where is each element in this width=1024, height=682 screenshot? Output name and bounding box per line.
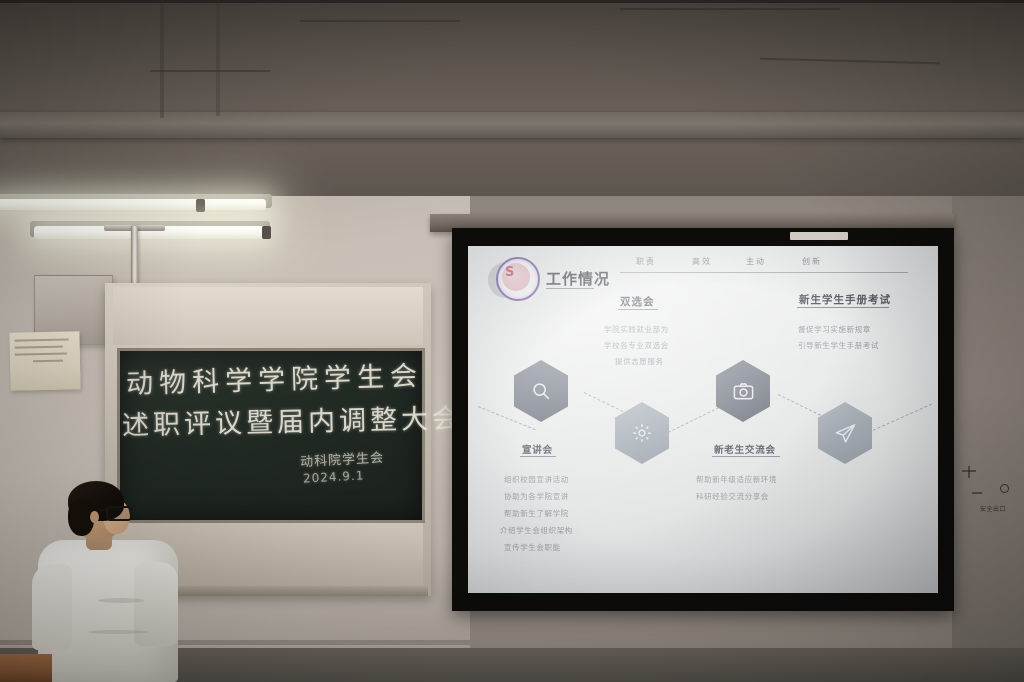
ceiling-crack <box>620 8 840 10</box>
section-3-body-line-1: 组织校园宣讲活动 <box>504 474 569 485</box>
ceiling-crack <box>150 70 270 72</box>
shirt-fold <box>98 598 144 603</box>
header-word-4: 创新 <box>802 256 822 267</box>
wall-mark <box>972 492 982 494</box>
paper-plane-icon <box>834 422 857 445</box>
light-tube-end <box>196 199 205 212</box>
logo-monogram: S <box>505 265 513 280</box>
slide-title-underline <box>546 288 594 289</box>
paper-notice <box>9 331 80 390</box>
section-1-body-line-3: 提供志愿服务 <box>615 356 664 367</box>
person-ear <box>90 511 99 523</box>
exit-sign: 安全出口 <box>980 498 1014 507</box>
notice-line <box>15 339 69 342</box>
section-4-body-line-1: 帮助新年级适应新环境 <box>696 474 777 485</box>
section-3-body-line-2: 协助为各学院宣讲 <box>504 491 569 502</box>
hexagon-search[interactable] <box>514 360 568 422</box>
ceiling-pipe <box>216 0 220 116</box>
person-right-sleeve <box>134 562 178 646</box>
blackboard-line-2: 述职评议暨届内调整大会 <box>122 396 464 442</box>
blackboard-upper-panel <box>113 287 423 345</box>
hexagon-paper-plane[interactable] <box>818 402 872 464</box>
shirt-fold <box>88 630 148 634</box>
notice-line <box>33 360 63 363</box>
person-left-shoulder <box>32 564 72 650</box>
header-word-2: 高效 <box>692 256 712 267</box>
blackboard-line-1: 动物科学学院学生会 <box>126 354 424 401</box>
section-2-body-line-2: 引导新生学生手册考试 <box>798 340 879 351</box>
slide-title: 工作情况 <box>546 268 610 289</box>
gear-icon <box>631 422 653 444</box>
projected-slide: S 工作情况 职责 高效 主动 创新 双选会 学院实践就业部为 学校各专业双选会… <box>468 246 938 593</box>
hexagon-label-underline-3 <box>712 456 780 457</box>
desk-corner <box>0 654 52 682</box>
hexagon-label-1: 宣讲会 <box>522 442 553 456</box>
camera-icon <box>732 380 755 403</box>
section-3-body-line-5: 宣传学生会职能 <box>504 542 561 553</box>
light-tube-end <box>262 226 271 239</box>
exit-sign-label: 安全出口 <box>980 506 1006 513</box>
header-word-3: 主动 <box>746 256 766 267</box>
header-rule <box>620 272 908 273</box>
ceiling-crack <box>300 20 460 22</box>
section-3-body-line-4: 介绍学生会组织架构 <box>500 525 573 536</box>
section-underline-1 <box>618 309 658 310</box>
hexagon-label-3: 新老生交流会 <box>714 442 776 456</box>
hexagon-label-underline-1 <box>520 456 556 457</box>
section-heading-2: 新生学生手册考试 <box>799 292 891 307</box>
section-4-body-line-2: 科研经验交流分享会 <box>696 491 769 502</box>
section-underline-2 <box>797 307 889 308</box>
light-tube-upper <box>0 199 266 210</box>
connector-dash <box>868 404 932 433</box>
wall-outlet[interactable] <box>1000 484 1009 493</box>
ceiling <box>0 0 1024 196</box>
notice-line <box>15 353 67 356</box>
hexagon-camera[interactable] <box>716 360 770 422</box>
wall-mark <box>968 466 970 478</box>
ceiling-seam <box>0 0 1024 3</box>
organization-logo: S <box>496 257 540 301</box>
ceiling-pipe <box>160 0 164 118</box>
notice-line <box>15 346 63 349</box>
person-standing <box>28 478 178 682</box>
right-wall <box>952 196 1024 682</box>
search-icon <box>530 380 552 402</box>
classroom-photo: 安全出口 动物科学学院学生会 述职评议暨届内调整大会 动科院学生会 2024.9… <box>0 0 1024 682</box>
section-heading-1: 双选会 <box>620 294 655 309</box>
screen-pull-tab[interactable] <box>790 232 848 240</box>
section-2-body-line-1: 督促学习实施新规章 <box>798 324 871 335</box>
header-word-1: 职责 <box>636 256 656 267</box>
section-3-body-line-3: 帮助新生了解学院 <box>504 508 569 519</box>
ceiling-beam <box>0 112 1024 138</box>
section-1-body-line-1: 学院实践就业部为 <box>604 324 669 335</box>
section-1-body-line-2: 学校各专业双选会 <box>604 340 669 351</box>
glasses-lens <box>106 506 132 521</box>
